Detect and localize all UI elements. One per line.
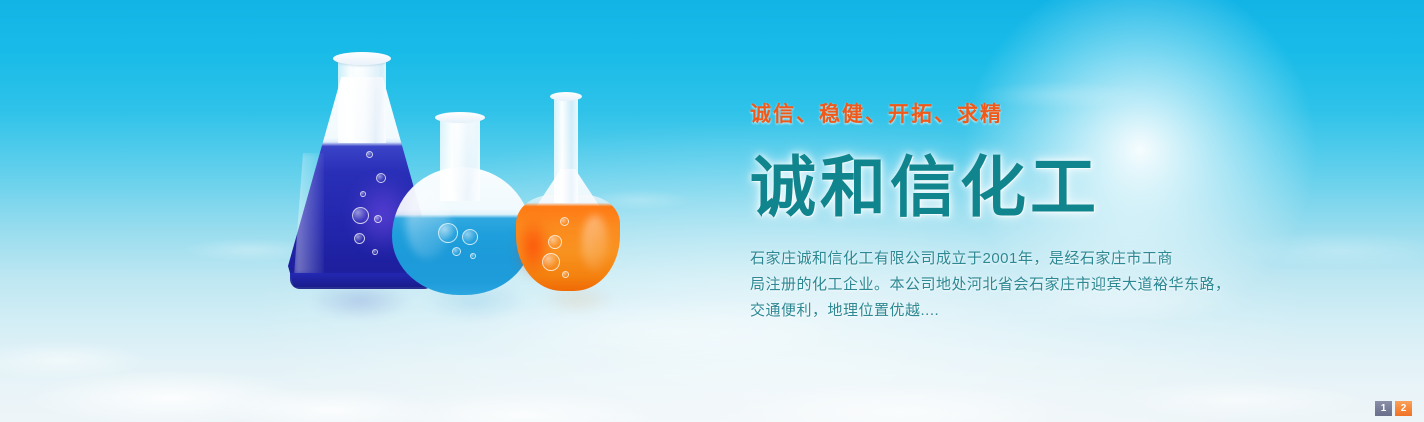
chemistry-flasks-illustration <box>280 55 640 345</box>
pear-flask-neck <box>554 95 578 203</box>
pear-shaped-flask-icon <box>512 95 624 291</box>
bubble-icon <box>376 173 386 183</box>
pagination-dot-1[interactable]: 1 <box>1375 401 1392 416</box>
bubble-icon <box>372 249 378 255</box>
pear-flask-rim <box>550 92 582 101</box>
conical-flask-rim <box>333 52 391 65</box>
pagination-dot-2[interactable]: 2 <box>1395 401 1412 416</box>
carousel-pagination: 1 2 <box>1375 401 1412 416</box>
bubble-icon <box>542 253 560 271</box>
bubble-icon <box>374 215 382 223</box>
bubble-icon <box>548 235 562 249</box>
bubble-icon <box>562 271 569 278</box>
bubble-icon <box>352 207 369 224</box>
bubble-icon <box>470 253 476 259</box>
description-line: 石家庄诚和信化工有限公司成立于2001年，是经石家庄市工商 <box>750 246 1270 272</box>
description-line: 局注册的化工企业。本公司地处河北省会石家庄市迎宾大道裕华东路， <box>750 272 1270 298</box>
banner-description: 石家庄诚和信化工有限公司成立于2001年，是经石家庄市工商 局注册的化工企业。本… <box>750 246 1270 324</box>
bubble-icon <box>360 191 366 197</box>
bubble-icon <box>452 247 461 256</box>
conical-flask-highlight <box>294 153 324 275</box>
banner-tagline: 诚信、稳健、开拓、求精 <box>750 100 1270 130</box>
bubble-icon <box>366 151 373 158</box>
description-line: 交通便利，地理位置优越.... <box>750 298 1270 324</box>
bubble-icon <box>438 223 458 243</box>
bubble-icon <box>462 229 478 245</box>
flask-reflection <box>300 287 630 349</box>
round-flask-rim <box>435 112 485 123</box>
banner-copy: 诚信、稳健、开拓、求精 诚和信化工 石家庄诚和信化工有限公司成立于2001年，是… <box>750 100 1270 324</box>
bubble-icon <box>354 233 365 244</box>
hero-banner: 诚信、稳健、开拓、求精 诚和信化工 石家庄诚和信化工有限公司成立于2001年，是… <box>0 0 1424 422</box>
round-bottom-flask-icon <box>392 115 532 295</box>
bubble-icon <box>560 217 569 226</box>
pear-flask-highlight <box>582 215 608 271</box>
banner-title: 诚和信化工 <box>750 148 1270 226</box>
